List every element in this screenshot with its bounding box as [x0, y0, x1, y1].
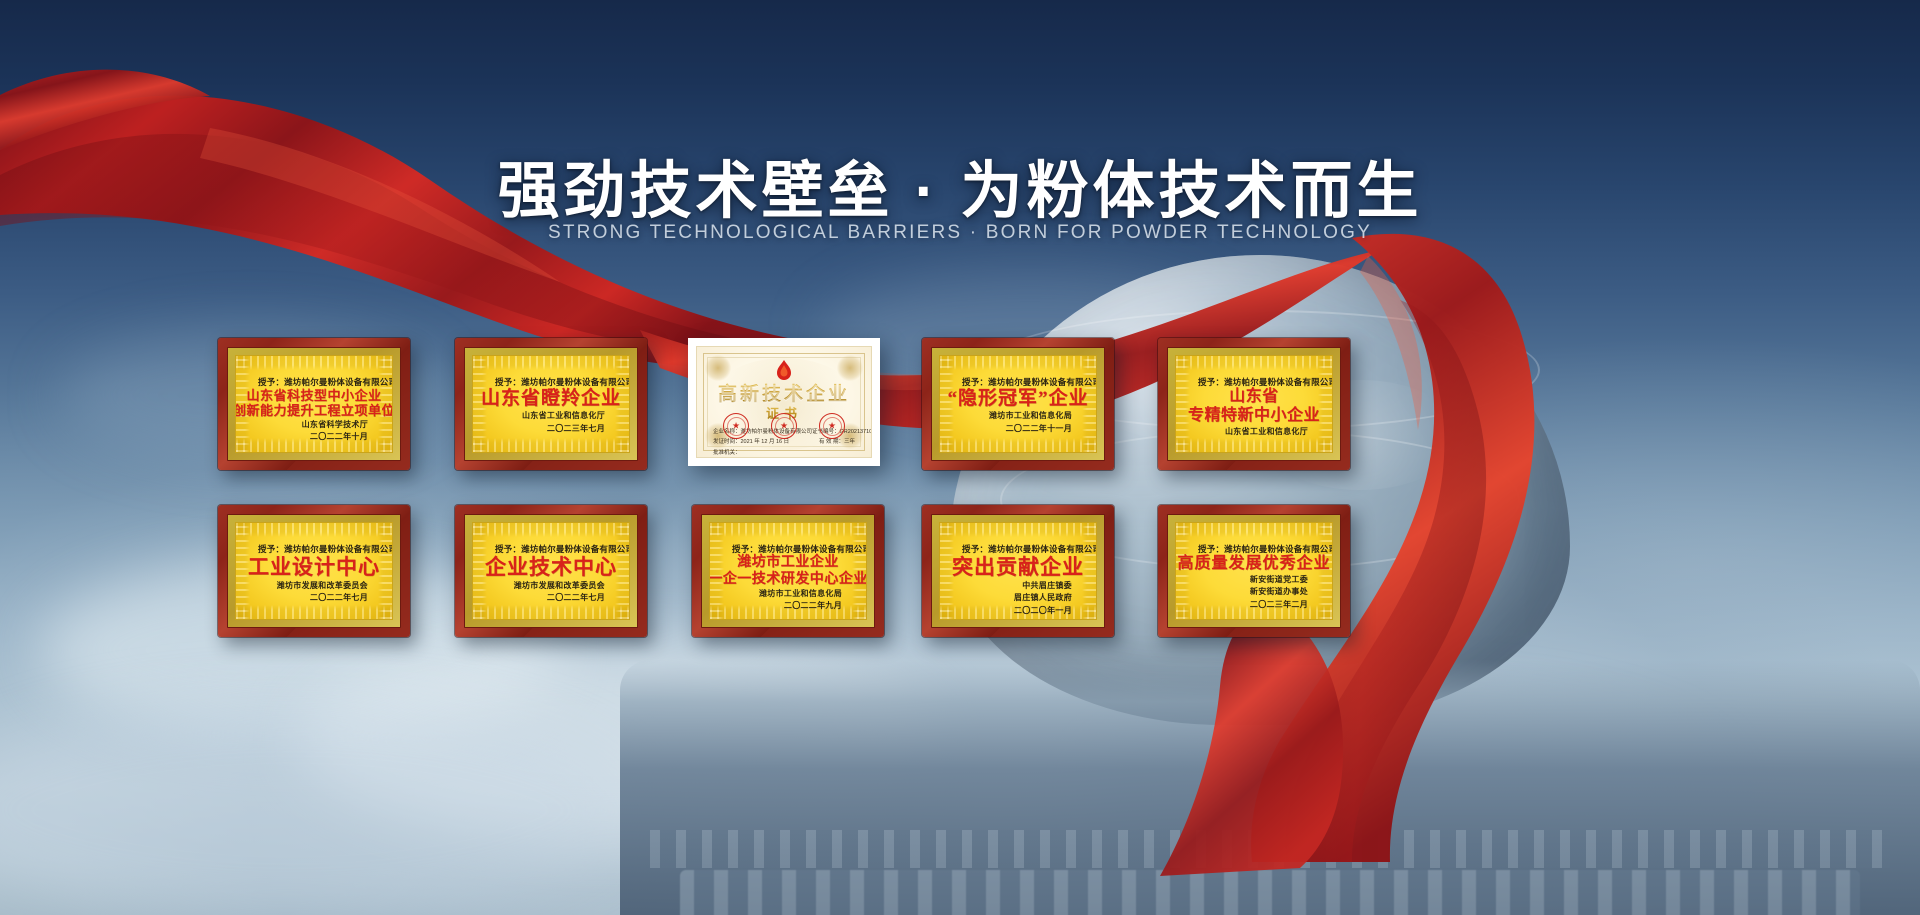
- plaque-title-line-1: 潍坊市工业企业: [737, 555, 839, 572]
- plaque-frame: 授予：潍坊帕尔曼粉体设备有限公司企业技术中心潍坊市发展和改革委员会二〇二二年七月: [455, 505, 647, 637]
- plaque-title: “隐形冠军”企业: [952, 388, 1084, 410]
- plaque-title-line-2: 一企一技术研发中心企业: [709, 572, 867, 589]
- plaque-shandong-sci-tech-sme[interactable]: 授予：潍坊帕尔曼粉体设备有限公司山东省科技型中小企业创新能力提升工程立项单位山东…: [218, 338, 410, 470]
- plaque-issuer-secondary: 新安街道办事处: [1188, 586, 1308, 598]
- plaque-issuer: 潍坊市工业和信息化局: [722, 588, 842, 600]
- plaque-title-line-1: 企业技术中心: [485, 555, 617, 580]
- certificate-high-tech-enterprise[interactable]: 高新技术企业证书企业名称：潍坊帕尔曼粉体设备有限公司证书编号：GR2021371…: [688, 338, 880, 466]
- plaque-frame: 授予：潍坊帕尔曼粉体设备有限公司“隐形冠军”企业潍坊市工业和信息化局二〇二二年十…: [922, 338, 1114, 470]
- plaque-inner-bevel: 授予：潍坊帕尔曼粉体设备有限公司“隐形冠军”企业潍坊市工业和信息化局二〇二二年十…: [931, 347, 1105, 461]
- plaque-title-line-1: 山东省科技型中小企业: [247, 388, 382, 403]
- plaque-frame: 授予：潍坊帕尔曼粉体设备有限公司山东省专精特新中小企业山东省工业和信息化厅: [1158, 338, 1350, 470]
- plaque-title-line-1: 工业设计中心: [248, 555, 380, 580]
- plaque-date: 二〇二二年七月: [248, 592, 368, 604]
- plaque-outstanding-contribution-enterprise[interactable]: 授予：潍坊帕尔曼粉体设备有限公司突出贡献企业中共眉庄镇委眉庄镇人民政府二〇二〇年…: [922, 505, 1114, 637]
- plaque-plate: 授予：潍坊帕尔曼粉体设备有限公司工业设计中心潍坊市发展和改革委员会二〇二二年七月: [235, 522, 393, 620]
- plaque-title: 山东省瞪羚企业: [485, 388, 617, 410]
- plaque-awardee: 授予：潍坊帕尔曼粉体设备有限公司: [258, 543, 380, 555]
- plaque-awardee: 授予：潍坊帕尔曼粉体设备有限公司: [495, 376, 617, 388]
- plaque-frame: 授予：潍坊帕尔曼粉体设备有限公司山东省科技型中小企业创新能力提升工程立项单位山东…: [218, 338, 410, 470]
- plaque-title: 企业技术中心: [485, 555, 617, 580]
- plaque-plate: 授予：潍坊帕尔曼粉体设备有限公司企业技术中心潍坊市发展和改革委员会二〇二二年七月: [472, 522, 630, 620]
- plaque-title: 工业设计中心: [248, 555, 380, 580]
- plaque-inner-bevel: 授予：潍坊帕尔曼粉体设备有限公司企业技术中心潍坊市发展和改革委员会二〇二二年七月: [464, 514, 638, 628]
- plaque-high-quality-development-excellent-enterprise[interactable]: 授予：潍坊帕尔曼粉体设备有限公司高质量发展优秀企业新安街道党工委新安街道办事处二…: [1158, 505, 1350, 637]
- plaque-frame: 授予：潍坊帕尔曼粉体设备有限公司高质量发展优秀企业新安街道党工委新安街道办事处二…: [1158, 505, 1350, 637]
- plaque-title: 高质量发展优秀企业: [1188, 555, 1320, 574]
- plaque-plate: 授予：潍坊帕尔曼粉体设备有限公司突出贡献企业中共眉庄镇委眉庄镇人民政府二〇二〇年…: [939, 522, 1097, 620]
- certificate-field-row: 批准机关：: [713, 448, 855, 458]
- plaque-title: 突出贡献企业: [952, 555, 1084, 580]
- plaque-issuer: 山东省工业和信息化厅: [485, 410, 605, 422]
- plaque-date: 二〇二二年七月: [485, 592, 605, 604]
- plaque-inner-bevel: 授予：潍坊帕尔曼粉体设备有限公司山东省专精特新中小企业山东省工业和信息化厅: [1167, 347, 1341, 461]
- plaque-footer: 山东省工业和信息化厅: [1188, 426, 1308, 438]
- plaque-date: 二〇二三年二月: [1188, 599, 1308, 611]
- plaque-inner-bevel: 授予：潍坊帕尔曼粉体设备有限公司高质量发展优秀企业新安街道党工委新安街道办事处二…: [1167, 514, 1341, 628]
- plaque-title-line-2: 创新能力提升工程立项单位: [235, 403, 393, 418]
- plaque-title-line-1: “隐形冠军”企业: [948, 388, 1089, 410]
- plaque-issuer: 潍坊市工业和信息化局: [952, 410, 1072, 422]
- plaque-date: 二〇二二年十月: [248, 431, 368, 443]
- plaque-shandong-specialized-sme[interactable]: 授予：潍坊帕尔曼粉体设备有限公司山东省专精特新中小企业山东省工业和信息化厅: [1158, 338, 1350, 470]
- plaque-inner-bevel: 授予：潍坊帕尔曼粉体设备有限公司山东省瞪羚企业山东省工业和信息化厅二〇二三年七月: [464, 347, 638, 461]
- plaque-shandong-gazelle-enterprise[interactable]: 授予：潍坊帕尔曼粉体设备有限公司山东省瞪羚企业山东省工业和信息化厅二〇二三年七月: [455, 338, 647, 470]
- certificate-wall: 授予：潍坊帕尔曼粉体设备有限公司山东省科技型中小企业创新能力提升工程立项单位山东…: [0, 0, 1920, 915]
- plaque-plate: 授予：潍坊帕尔曼粉体设备有限公司高质量发展优秀企业新安街道党工委新安街道办事处二…: [1175, 522, 1333, 620]
- plaque-frame: 授予：潍坊帕尔曼粉体设备有限公司潍坊市工业企业一企一技术研发中心企业潍坊市工业和…: [692, 505, 884, 637]
- plaque-awardee: 授予：潍坊帕尔曼粉体设备有限公司: [732, 543, 854, 555]
- plaque-awardee: 授予：潍坊帕尔曼粉体设备有限公司: [962, 376, 1084, 388]
- certificate-field-row: 发证时间：2021 年 12 月 16 日有 效 期：三年: [713, 437, 855, 447]
- plaque-awardee: 授予：潍坊帕尔曼粉体设备有限公司: [1198, 543, 1320, 555]
- plaque-plate: 授予：潍坊帕尔曼粉体设备有限公司山东省科技型中小企业创新能力提升工程立项单位山东…: [235, 355, 393, 453]
- plaque-industrial-design-center[interactable]: 授予：潍坊帕尔曼粉体设备有限公司工业设计中心潍坊市发展和改革委员会二〇二二年七月: [218, 505, 410, 637]
- plaque-awardee: 授予：潍坊帕尔曼粉体设备有限公司: [495, 543, 617, 555]
- plaque-awardee: 授予：潍坊帕尔曼粉体设备有限公司: [1198, 376, 1320, 388]
- plaque-weifang-one-enterprise-one-tech-rd-center[interactable]: 授予：潍坊帕尔曼粉体设备有限公司潍坊市工业企业一企一技术研发中心企业潍坊市工业和…: [692, 505, 884, 637]
- plaque-footer: 新安街道党工委新安街道办事处二〇二三年二月: [1188, 574, 1308, 611]
- plaque-footer: 潍坊市工业和信息化局二〇二二年九月: [722, 588, 842, 613]
- plaque-plate: 授予：潍坊帕尔曼粉体设备有限公司山东省瞪羚企业山东省工业和信息化厅二〇二三年七月: [472, 355, 630, 453]
- plaque-date: 二〇二〇年一月: [952, 605, 1072, 617]
- plaque-title: 潍坊市工业企业一企一技术研发中心企业: [722, 555, 854, 588]
- certificate-field-value: 有 效 期：三年: [819, 437, 855, 447]
- plaque-issuer: 潍坊市发展和改革委员会: [248, 580, 368, 592]
- plaque-inner-bevel: 授予：潍坊帕尔曼粉体设备有限公司突出贡献企业中共眉庄镇委眉庄镇人民政府二〇二〇年…: [931, 514, 1105, 628]
- plaque-footer: 潍坊市发展和改革委员会二〇二二年七月: [485, 580, 605, 605]
- certificate-field-label: 发证时间：2021 年 12 月 16 日: [713, 437, 789, 447]
- plaque-issuer: 潍坊市发展和改革委员会: [485, 580, 605, 592]
- plaque-footer: 山东省工业和信息化厅二〇二三年七月: [485, 410, 605, 435]
- plaque-inner-bevel: 授予：潍坊帕尔曼粉体设备有限公司潍坊市工业企业一企一技术研发中心企业潍坊市工业和…: [701, 514, 875, 628]
- plaque-hidden-champion-enterprise[interactable]: 授予：潍坊帕尔曼粉体设备有限公司“隐形冠军”企业潍坊市工业和信息化局二〇二二年十…: [922, 338, 1114, 470]
- plaque-date: 二〇二二年十一月: [952, 423, 1072, 435]
- plaque-date: 二〇二二年九月: [722, 600, 842, 612]
- plaque-awardee: 授予：潍坊帕尔曼粉体设备有限公司: [962, 543, 1084, 555]
- plaque-title-line-1: 高质量发展优秀企业: [1178, 555, 1331, 574]
- plaque-frame: 授予：潍坊帕尔曼粉体设备有限公司突出贡献企业中共眉庄镇委眉庄镇人民政府二〇二〇年…: [922, 505, 1114, 637]
- plaque-issuer: 山东省科学技术厅: [248, 419, 368, 431]
- plaque-footer: 中共眉庄镇委眉庄镇人民政府二〇二〇年一月: [952, 580, 1072, 617]
- plaque-frame: 授予：潍坊帕尔曼粉体设备有限公司工业设计中心潍坊市发展和改革委员会二〇二二年七月: [218, 505, 410, 637]
- plaque-title: 山东省科技型中小企业创新能力提升工程立项单位: [248, 388, 380, 419]
- plaque-title-line-1: 山东省: [1229, 388, 1279, 407]
- plaque-issuer: 新安街道党工委: [1188, 574, 1308, 586]
- plaque-issuer-secondary: 眉庄镇人民政府: [952, 592, 1072, 604]
- official-seal-icon: [771, 413, 797, 439]
- certificate-body: 高新技术企业证书企业名称：潍坊帕尔曼粉体设备有限公司证书编号：GR2021371…: [696, 346, 872, 458]
- plaque-issuer: 中共眉庄镇委: [952, 580, 1072, 592]
- certificate-title: 高新技术企业: [697, 379, 871, 406]
- plaque-title: 山东省专精特新中小企业: [1188, 388, 1320, 426]
- plaque-title-line-2: 专精特新中小企业: [1188, 407, 1320, 426]
- official-seal-icon: [819, 413, 845, 439]
- plaque-footer: 潍坊市发展和改革委员会二〇二二年七月: [248, 580, 368, 605]
- plaque-enterprise-technology-center[interactable]: 授予：潍坊帕尔曼粉体设备有限公司企业技术中心潍坊市发展和改革委员会二〇二二年七月: [455, 505, 647, 637]
- plaque-inner-bevel: 授予：潍坊帕尔曼粉体设备有限公司工业设计中心潍坊市发展和改革委员会二〇二二年七月: [227, 514, 401, 628]
- plaque-issuer: 山东省工业和信息化厅: [1188, 426, 1308, 438]
- certificate-field-label: 批准机关：: [713, 448, 741, 458]
- plaque-plate: 授予：潍坊帕尔曼粉体设备有限公司山东省专精特新中小企业山东省工业和信息化厅: [1175, 355, 1333, 453]
- plaque-footer: 潍坊市工业和信息化局二〇二二年十一月: [952, 410, 1072, 435]
- plaque-title-line-1: 山东省瞪羚企业: [481, 388, 621, 410]
- plaque-date: 二〇二三年七月: [485, 423, 605, 435]
- plaque-plate: 授予：潍坊帕尔曼粉体设备有限公司潍坊市工业企业一企一技术研发中心企业潍坊市工业和…: [709, 522, 867, 620]
- plaque-frame: 授予：潍坊帕尔曼粉体设备有限公司山东省瞪羚企业山东省工业和信息化厅二〇二三年七月: [455, 338, 647, 470]
- plaque-title-line-1: 突出贡献企业: [952, 555, 1084, 580]
- plaque-footer: 山东省科学技术厅二〇二二年十月: [248, 419, 368, 444]
- hero-banner: 强劲技术壁垒 · 为粉体技术而生 STRONG TECHNOLOGICAL BA…: [0, 0, 1920, 915]
- certificate-seals: [697, 413, 871, 439]
- official-seal-icon: [723, 413, 749, 439]
- plaque-inner-bevel: 授予：潍坊帕尔曼粉体设备有限公司山东省科技型中小企业创新能力提升工程立项单位山东…: [227, 347, 401, 461]
- plaque-awardee: 授予：潍坊帕尔曼粉体设备有限公司: [258, 376, 380, 388]
- plaque-plate: 授予：潍坊帕尔曼粉体设备有限公司“隐形冠军”企业潍坊市工业和信息化局二〇二二年十…: [939, 355, 1097, 453]
